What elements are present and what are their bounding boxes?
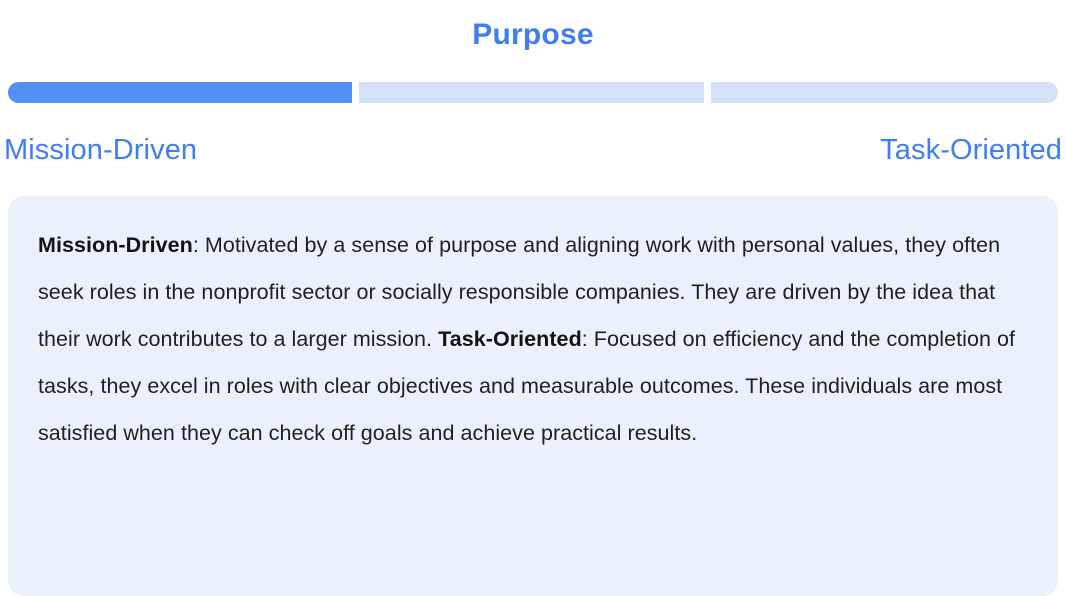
description-term: Mission-Driven bbox=[38, 233, 193, 257]
page-title: Purpose bbox=[0, 16, 1066, 54]
description-separator: : bbox=[193, 233, 205, 257]
scale-segment-1[interactable] bbox=[8, 82, 352, 103]
pole-label-left: Mission-Driven bbox=[4, 131, 197, 169]
scale-segment-3[interactable] bbox=[711, 82, 1058, 103]
scale-segment-2[interactable] bbox=[359, 82, 704, 103]
purpose-trait-slide: Purpose Mission-Driven Task-Oriented Mis… bbox=[0, 0, 1066, 592]
trait-scale[interactable] bbox=[8, 82, 1058, 103]
description-separator: : bbox=[582, 327, 594, 351]
description-card: Mission-Driven: Motivated by a sense of … bbox=[8, 196, 1058, 596]
description-term: Task-Oriented bbox=[438, 327, 582, 351]
description-paragraph: Mission-Driven: Motivated by a sense of … bbox=[38, 222, 1028, 457]
pole-labels: Mission-Driven Task-Oriented bbox=[4, 131, 1062, 169]
pole-label-right: Task-Oriented bbox=[880, 131, 1062, 169]
